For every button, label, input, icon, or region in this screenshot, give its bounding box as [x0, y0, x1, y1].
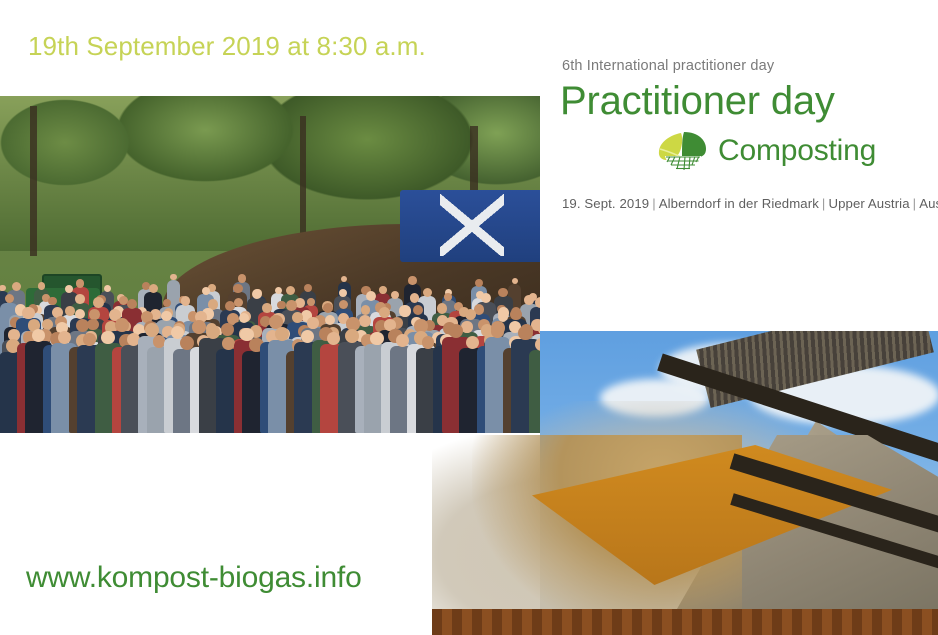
crowd-person-head: [65, 306, 75, 316]
location-part: Alberndorf in der Riedmark: [659, 196, 819, 211]
crowd-person-head: [275, 287, 282, 294]
crowd-person-head: [325, 315, 336, 326]
crowd-person-head: [101, 331, 115, 345]
crowd-person-head: [481, 293, 491, 303]
location-part: Austria: [919, 196, 938, 211]
crowd-person-head: [345, 329, 359, 343]
crowd-person-head: [222, 337, 235, 350]
crowd-person-head: [366, 291, 376, 301]
crowd-person-head: [239, 313, 250, 324]
composting-brand-label: Composting: [718, 134, 876, 168]
crowd-person-head: [277, 301, 286, 310]
crowd-person-head: [22, 307, 35, 320]
crowd-person-head: [465, 309, 476, 320]
crowd-person-head: [76, 279, 85, 288]
crowd-person-head: [163, 299, 172, 308]
crowd-person-head: [38, 282, 46, 290]
crowd-person-head: [87, 319, 99, 331]
tree-trunk: [30, 106, 37, 256]
crowd-person-head: [475, 279, 483, 287]
crowd-person-head: [408, 276, 417, 285]
crowd-person-head: [75, 294, 85, 304]
crowd-person-head: [275, 327, 289, 341]
crowd-person-head: [65, 285, 74, 294]
crowd-person-head: [422, 336, 435, 349]
poster-canvas: 19th September 2019 at 8:30 a.m.: [0, 0, 938, 635]
crowd-person-head: [379, 286, 387, 294]
crowd-person-head: [307, 317, 319, 329]
crowd-person-head: [252, 289, 262, 299]
crowd-person-head: [262, 303, 272, 313]
crowd-person-head: [127, 299, 137, 309]
crowd-person-head: [512, 278, 519, 285]
crowd-person-head: [327, 332, 340, 345]
crowd-person-head: [304, 284, 312, 292]
crowd-person-head: [491, 325, 504, 338]
crowd-person-head: [286, 286, 295, 295]
blue-tipper-truck: [400, 190, 540, 262]
crowd-person-head: [76, 319, 89, 332]
crowd-person-head: [206, 325, 220, 339]
crowd-person-head: [286, 300, 297, 311]
website-url[interactable]: www.kompost-biogas.info: [26, 561, 362, 595]
crowd-person-head: [410, 293, 420, 303]
crowd-person-head: [170, 274, 177, 281]
crowd-person-head: [437, 303, 448, 314]
crowd-person-head: [295, 298, 305, 308]
crowd-person-head: [449, 324, 464, 339]
crowd-person-head: [359, 315, 372, 328]
crowd-person-head: [161, 311, 172, 322]
crowd-person-head: [5, 294, 14, 303]
crowd-person-head: [149, 284, 158, 293]
crowd-person-head: [48, 297, 57, 306]
crowd-person-head: [361, 305, 371, 315]
crowd-person-head: [396, 334, 409, 347]
crowd-person-head: [510, 309, 522, 321]
crowd-person-head: [339, 300, 348, 309]
crowd-person-head: [12, 282, 21, 291]
machine-track-belt: [432, 609, 938, 635]
crowd-person-head: [192, 320, 206, 334]
crowd-person-head: [524, 295, 534, 305]
location-part: 19. Sept. 2019: [562, 196, 649, 211]
crowd-person-head: [466, 336, 479, 349]
crowd-person-head: [444, 293, 452, 301]
crowd-person: [529, 350, 541, 433]
composting-leaf-logo: [654, 130, 710, 172]
crowd-person-head: [498, 288, 508, 298]
crowd-person-head: [391, 291, 399, 299]
crowd-person-head: [423, 288, 432, 297]
crowd-person-head: [83, 333, 96, 346]
crowd-person-head: [225, 301, 235, 311]
crowd-person-head: [339, 289, 348, 298]
crowd-person-head: [58, 331, 71, 344]
crowd-person-head: [233, 284, 243, 294]
crowd-person-head: [518, 326, 533, 341]
crowd-person-head: [75, 309, 86, 320]
crowd-person-head: [323, 303, 333, 313]
crowd-person-head: [307, 298, 315, 306]
crowd-of-visitors: [0, 271, 540, 433]
crowd-person-head: [292, 312, 303, 323]
crowd-person-head: [238, 274, 247, 283]
crowd-person-head: [379, 307, 390, 318]
crowd-person-head: [535, 338, 540, 351]
crowd-person-head: [301, 330, 315, 344]
crowd-person-head: [221, 323, 234, 336]
crowd-person-head: [535, 297, 540, 308]
event-eyebrow: 6th International practitioner day: [562, 58, 930, 74]
crowd-person-head: [104, 285, 111, 292]
location-separator: |: [910, 196, 920, 211]
location-separator: |: [649, 196, 659, 211]
crowd-person-head: [202, 287, 211, 296]
event-date-headline: 19th September 2019 at 8:30 a.m.: [28, 31, 426, 62]
crowd-person-head: [538, 323, 540, 335]
crowd-person-head: [32, 329, 46, 343]
crowd-person-head: [181, 296, 191, 306]
crowd-person-head: [93, 297, 104, 308]
event-info-block: 6th International practitioner day Pract…: [560, 58, 930, 211]
location-part: Upper Austria: [828, 196, 909, 211]
crowd-person-head: [341, 276, 348, 283]
crowd-person-head: [115, 318, 129, 332]
crowd-photo: [0, 96, 540, 433]
machine-photo-lower: [432, 435, 938, 635]
crowd-person-head: [413, 305, 423, 315]
event-location-line: 19. Sept. 2019|Alberndorf in der Riedmar…: [562, 196, 930, 211]
composting-brand: Composting: [654, 130, 930, 172]
crowd-person-head: [0, 285, 6, 292]
page-title: Practitioner day: [560, 80, 930, 122]
